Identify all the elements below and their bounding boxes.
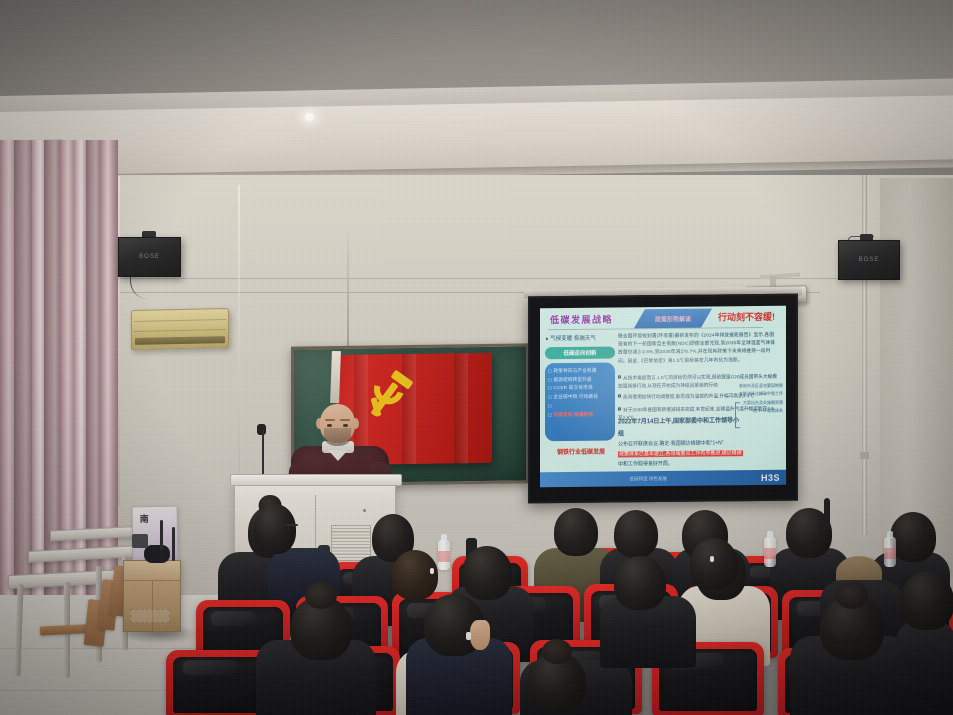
side-bullet-text: 气候变暖 极端天气 — [550, 336, 596, 342]
slide-vertical-note: 各地市及区县也要因地制宜推进碳达峰碳中和工作方案出台及实施细则落地“1+N”政策… — [739, 382, 783, 416]
carton-label — [130, 609, 170, 623]
glasses-icon — [286, 524, 298, 526]
flag-fold — [454, 353, 468, 463]
speaker-brand-label: BOSE — [139, 254, 160, 260]
water-bottle — [438, 540, 450, 570]
slide-quote-block: 2022年7月14日上午,国家部委中和工作领导小组 公布召开联席会议,确定:我国… — [618, 416, 743, 470]
presentation-slide: 低碳发展战略 政策形势解读 行动刻不容缓! ▸ 气候变暖 极端天气 低碳走向创新… — [540, 306, 786, 488]
air-conditioner — [131, 308, 229, 350]
slide-chevron-banner: 政策形势解读 — [634, 308, 712, 328]
flag-hanging-rod — [347, 232, 349, 350]
attendee-torso — [896, 620, 953, 715]
ac-seam — [134, 319, 226, 322]
attendee-face — [470, 620, 490, 650]
attendee-head — [614, 556, 666, 610]
slide-title: 低碳发展战略 — [550, 313, 613, 327]
wall-corner-left — [118, 176, 120, 506]
slide-side-list: ◻ 政策导向与产业机遇 ◻ 能源结构转型升级 ◻ CCER 碳交易市场 ◻ 企业… — [545, 363, 615, 442]
attendee-head — [554, 508, 598, 556]
slide-logo: H3S — [761, 472, 780, 482]
earbud-icon — [710, 556, 714, 562]
earbud-icon — [430, 568, 434, 574]
carton-seam — [152, 581, 153, 633]
ac-louvre — [135, 336, 225, 345]
ceiling-light — [305, 113, 314, 121]
flag-hanger — [330, 351, 341, 403]
bag-on-carton — [144, 545, 170, 563]
attendee-head — [614, 510, 658, 558]
side-card-label: 低碳走向创新 — [563, 349, 596, 357]
projection-screen: 低碳发展战略 政策形势解读 行动刻不容缓! ▸ 气候变暖 极端天气 低碳走向创新… — [528, 294, 798, 504]
attendee-head — [254, 504, 296, 554]
rolled-item — [172, 527, 175, 561]
speaker-cable-right — [848, 236, 874, 246]
wall-speaker-left: BOSE — [118, 237, 181, 277]
pipe-joint — [860, 452, 869, 459]
hammer-and-sickle-icon — [371, 372, 423, 421]
chevron-label: 政策形势解读 — [655, 314, 691, 323]
slide-headline-red: 行动刻不容缓! — [718, 310, 775, 324]
slide-footer-center: 低碳转型 绿色发展 — [630, 475, 667, 481]
ac-seam — [134, 329, 226, 332]
attendee-head — [820, 596, 884, 660]
lectern-top — [230, 474, 402, 486]
lectern-vent — [331, 525, 371, 561]
wall-pipe — [862, 175, 867, 535]
attendee-head — [290, 596, 352, 660]
storage-carton — [123, 560, 181, 632]
side-list-item: ◻ 双碳目标 倒逼转型 — [548, 410, 612, 419]
slide-side-footer: 钢铁行业低碳发展 — [544, 446, 618, 456]
rolled-item — [160, 520, 163, 550]
quote-line: 政策体系已基本建立,各领域重点工作有序推进,碳达峰碳 — [618, 449, 743, 460]
slide-body-paragraph: 联合国环境规划署(环境署)最新发布的《2024年排放差距报告》显示,各国现有的下… — [618, 331, 778, 366]
presenter-beard — [324, 428, 351, 446]
lecture-hall-photo: BOSE BOSE — [0, 0, 953, 715]
water-bottle — [764, 537, 776, 567]
slide-side-bullet: ▸ 气候变暖 极端天气 — [546, 334, 596, 343]
thin-pole — [824, 498, 830, 530]
carton-flap — [124, 561, 180, 581]
speaker-brand-label: BOSE — [859, 257, 880, 263]
attendee-head — [392, 550, 438, 600]
slide-footer-bar: 低碳转型 绿色发展 H3S — [540, 470, 786, 488]
lectern-knob — [363, 509, 366, 512]
attendee-head — [528, 652, 586, 712]
curtain-panel — [100, 140, 118, 610]
quote-lead: 2022年7月14日上午,国家部委中和工作领导小组 — [618, 416, 743, 441]
attendee-head — [690, 538, 738, 590]
attendee-head — [462, 546, 512, 600]
small-object — [132, 534, 148, 548]
slide-side-card: 低碳走向创新 — [545, 347, 615, 360]
attendee-head — [890, 512, 936, 562]
wall-speaker-right: BOSE — [838, 240, 900, 280]
poster-glyph: 南 — [138, 514, 151, 525]
attendee-head — [900, 572, 953, 630]
earbud-icon — [466, 632, 471, 640]
water-bottle — [884, 537, 896, 567]
quote-line: 中和工作取得良好开局。 — [618, 459, 743, 470]
